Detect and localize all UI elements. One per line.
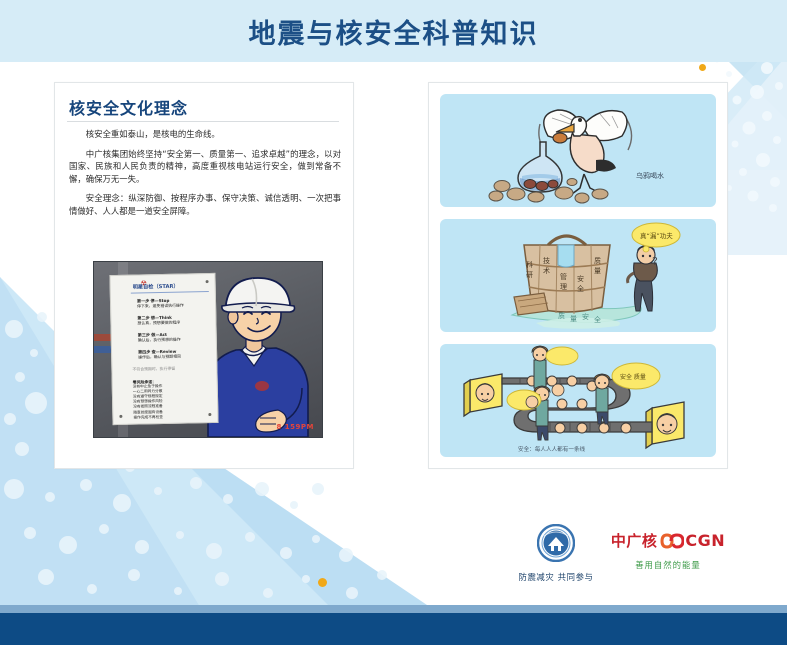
paragraph-3: 安全理念：纵深防御、按程序办事、保守决策、诚信透明、一次把事情做好、人人都是一道… <box>69 192 341 217</box>
poster-step-1-desc: 停下来，避免错误执行操作 <box>137 302 184 308</box>
section-title-divider <box>67 121 339 122</box>
stave-label-4: 安 <box>577 274 584 283</box>
poster-hole-bottom-left <box>119 415 122 418</box>
poster-step-4-desc: 操作后，确认与预期相同 <box>138 353 181 359</box>
stave-label-5: 质 <box>594 256 601 265</box>
stave-label-1: 科 <box>526 260 533 269</box>
speech-bubble-c <box>507 390 541 410</box>
crane-flask-svg: 乌鸦喝水 <box>440 94 716 207</box>
star-selfcheck-photo: ☢ 明星自检（STAR） 第一步 停—Stop 停下来，避免错误执行操作 第二步… <box>93 261 323 438</box>
stave-label-3b: 理 <box>560 283 567 291</box>
stave-label-5b: 量 <box>594 267 601 275</box>
poster-hole-top-right <box>206 280 209 283</box>
stave-label-2b: 术 <box>543 266 550 275</box>
box-left-top <box>464 374 502 416</box>
speech-bubble-b: 安全 质量 <box>612 363 660 389</box>
line-worker-2 <box>594 374 610 424</box>
barrel-svg: 科研 技术 管理 安全 质量 质 量 安 全 <box>440 219 716 332</box>
cgn-logo-row: 中广核 CGN <box>608 530 728 551</box>
poster-commitment-list: 零风险承诺： 没有中止急于操作 一心二用同力分散 没有遵守规程规定 没有预想操作… <box>133 379 163 420</box>
footer-logos: 防震减灾 共同参与 中广核 CGN 善用自然的能量 <box>0 524 787 590</box>
right-illustration-panel: 乌鸦喝水 <box>428 82 728 469</box>
svg-text:安全 质量: 安全 质量 <box>620 373 646 381</box>
paragraph-2: 中广核集团始终坚持“安全第一、质量第一、追求卓越”的理念，以对国家、民族和人民负… <box>69 148 341 186</box>
illustration-wooden-barrel: 科研 技术 管理 安全 质量 质 量 安 全 <box>440 219 716 332</box>
ground-text-3: 安 <box>582 312 589 321</box>
speech-bubble-a <box>546 347 578 396</box>
svg-text:?: ? <box>652 255 658 268</box>
illustration-assembly-line: 安全 质量 安全：每人人人都有一条线 <box>440 344 716 457</box>
seal-logo-block: 防震减灾 共同参与 <box>506 524 606 583</box>
illustration-crane-flask: 乌鸦喝水 <box>440 94 716 207</box>
poster-step-3-desc: 确认后，执行预想的操作 <box>138 336 181 342</box>
photo-timestamp: 8 159PM <box>276 423 314 431</box>
cgn-chinese-name: 中广核 <box>611 530 658 551</box>
poster-step-2: 第二步 想—Think 想认真，预想要做的程序 <box>137 316 180 326</box>
poster-heading: 明星自检（STAR） <box>133 283 179 291</box>
assembly-line-caption: 安全：每人人人都有一条线 <box>518 445 586 453</box>
cgn-infinity-icon <box>658 532 684 550</box>
cgn-caption: 善用自然的能量 <box>608 559 728 571</box>
stave-label-1b: 研 <box>526 271 533 279</box>
poster-canvas: 地震与核安全科普知识 <box>0 0 787 645</box>
poster-step-3: 第三步 做—Act 确认后，执行预想的操作 <box>138 333 181 343</box>
assembly-line-svg: 安全 质量 安全：每人人人都有一条线 <box>440 344 716 457</box>
stave-label-3: 管 <box>560 272 567 281</box>
body-text-block: 核安全重如泰山，是核电的生命线。 中广核集团始终坚持“安全第一、质量第一、追求卓… <box>69 128 341 224</box>
poster-list-item-7: 操作完成不再检查 <box>133 415 163 421</box>
poster-step-4: 第四步 查—Review 操作后，确认与预期相同 <box>138 350 181 360</box>
star-poster: ☢ 明星自检（STAR） 第一步 停—Stop 停下来，避免错误执行操作 第二步… <box>109 273 218 425</box>
cgn-logo-block: 中广核 CGN 善用自然的能量 <box>608 530 728 571</box>
barrel-speech-text: 真“漏”功夫 <box>640 231 673 240</box>
earthquake-prevention-seal-icon <box>537 524 575 562</box>
footer-bar <box>0 613 787 645</box>
poster-step-1: 第一步 停—Stop 停下来，避免错误执行操作 <box>137 299 184 309</box>
poster-hole-bottom-right <box>208 413 211 416</box>
cgn-english-name: CGN <box>685 531 725 550</box>
ground-text-1: 质 <box>558 311 565 320</box>
ground-text-2: 量 <box>570 315 577 323</box>
crane-caption-text: 乌鸦喝水 <box>636 171 664 180</box>
poster-step-2-desc: 想认真，预想要做的程序 <box>137 319 180 325</box>
decor-bottom-thin-bar <box>0 605 787 613</box>
ground-text-4: 全 <box>594 315 601 324</box>
accent-dot-top-right <box>699 64 706 71</box>
page-title: 地震与核安全科普知识 <box>0 0 787 62</box>
seal-caption: 防震减灾 共同参与 <box>506 571 606 583</box>
stave-label-4b: 全 <box>577 284 584 293</box>
poster-heading-rule <box>131 291 209 294</box>
section-title: 核安全文化理念 <box>69 95 188 119</box>
paragraph-1: 核安全重如泰山，是核电的生命线。 <box>69 128 341 141</box>
poster-note: 不符合预期时，执行停留 <box>132 367 175 372</box>
left-content-panel: 核安全文化理念 核安全重如泰山，是核电的生命线。 中广核集团始终坚持“安全第一、… <box>54 82 354 469</box>
stave-label-2: 技 <box>543 256 550 265</box>
